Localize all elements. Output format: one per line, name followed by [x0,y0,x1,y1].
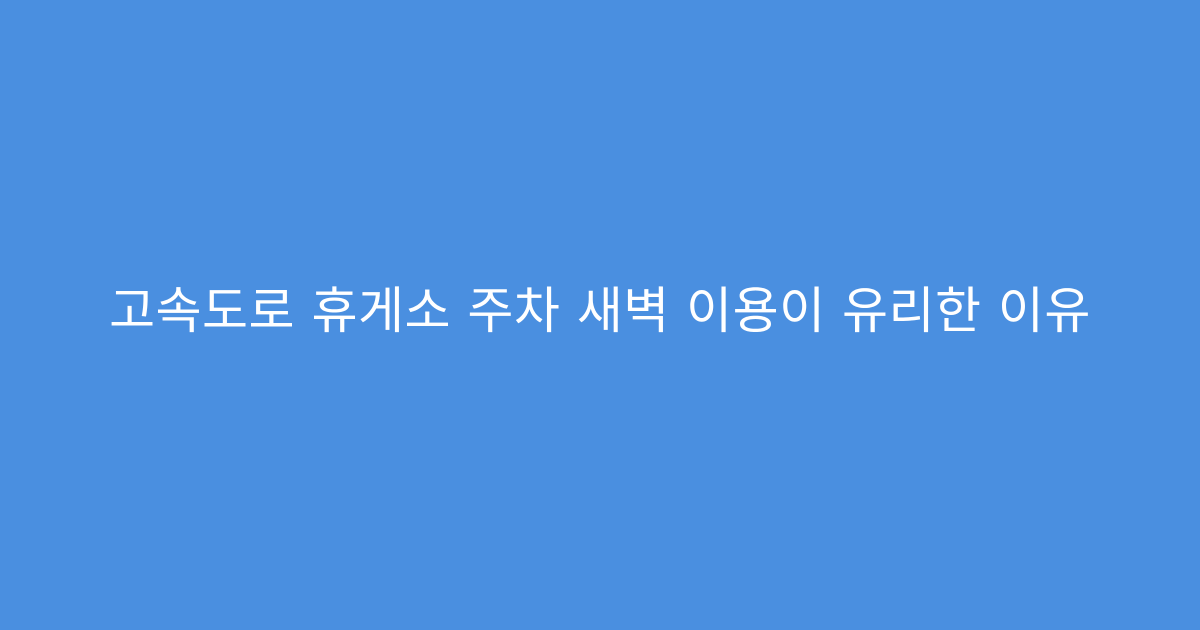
page-title: 고속도로 휴게소 주차 새벽 이용이 유리한 이유 [109,281,1091,341]
og-card: 고속도로 휴게소 주차 새벽 이용이 유리한 이유 [0,0,1200,630]
card-content-wrapper: 고속도로 휴게소 주차 새벽 이용이 유리한 이유 [0,281,1200,341]
